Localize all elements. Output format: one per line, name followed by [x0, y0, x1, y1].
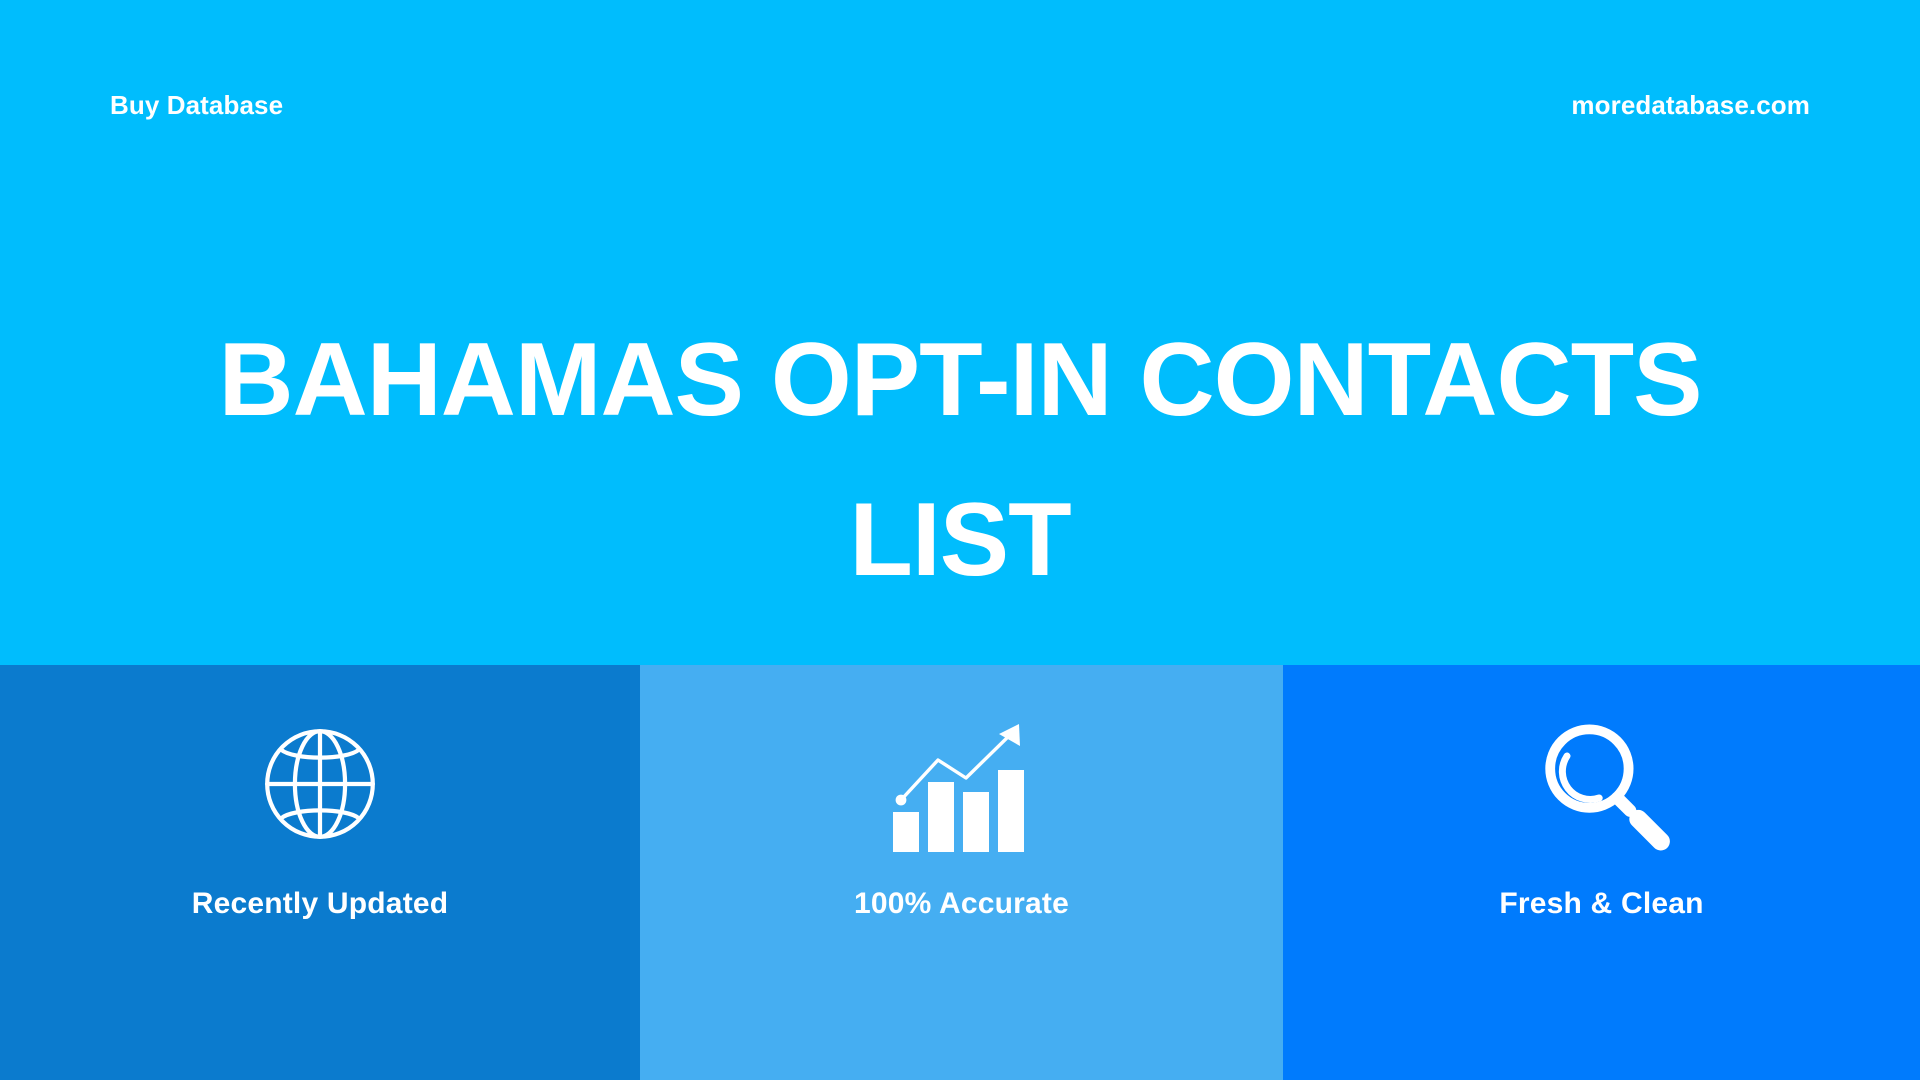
- feature-label-fresh-clean: Fresh & Clean: [1499, 887, 1703, 921]
- page-title-line-1: BAHAMAS OPT-IN CONTACTS: [60, 300, 1860, 460]
- header-section: Buy Database moredatabase.com BAHAMAS OP…: [0, 0, 1920, 665]
- feature-label-recently-updated: Recently Updated: [192, 887, 449, 921]
- brand-row: Buy Database moredatabase.com: [0, 0, 1920, 210]
- page-title: BAHAMAS OPT-IN CONTACTS LIST: [0, 300, 1920, 620]
- page-title-line-2: LIST: [60, 460, 1860, 620]
- feature-panel-fresh-clean: Fresh & Clean: [1283, 665, 1920, 1080]
- feature-panels: Recently Updated: [0, 665, 1920, 1080]
- feature-panel-recently-updated: Recently Updated: [0, 665, 640, 1080]
- globe-icon: [254, 709, 386, 859]
- brand-name: Buy Database: [110, 90, 283, 121]
- feature-label-accurate: 100% Accurate: [854, 887, 1069, 921]
- website-url: moredatabase.com: [1571, 90, 1810, 121]
- magnifier-icon: [1532, 709, 1672, 859]
- growth-bar-chart-icon: [887, 709, 1037, 859]
- promo-banner: Buy Database moredatabase.com BAHAMAS OP…: [0, 0, 1920, 1080]
- feature-panel-accurate: 100% Accurate: [640, 665, 1283, 1080]
